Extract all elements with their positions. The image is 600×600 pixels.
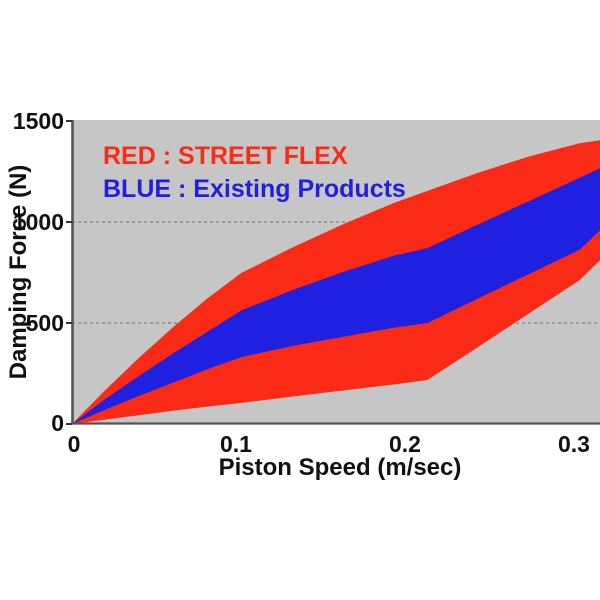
legend-value-existing-products: Existing Products: [193, 175, 406, 203]
legend-entry-street-flex: RED : STREET FLEX: [103, 142, 348, 170]
chart-figure: 0 500 1000 1500 0 0.1 0.2 0.3 Piston Spe…: [0, 0, 600, 600]
x-tick-label-0-3: 0.3: [558, 431, 590, 457]
legend-sep-blue: :: [178, 175, 186, 203]
legend-key-blue: BLUE: [103, 175, 171, 203]
legend-key-red: RED: [103, 142, 156, 170]
y-tick-label-0: 0: [51, 410, 64, 436]
legend-sep-red: :: [163, 142, 171, 170]
y-tick-label-1500: 1500: [13, 108, 64, 134]
x-tick-label-0: 0: [68, 431, 81, 457]
legend-value-street-flex: STREET FLEX: [178, 142, 348, 170]
damping-force-chart: 0 500 1000 1500 0 0.1 0.2 0.3 Piston Spe…: [0, 0, 600, 600]
x-axis-title: Piston Speed (m/sec): [219, 454, 462, 481]
legend-entry-existing-products: BLUE : Existing Products: [103, 175, 406, 203]
y-axis-title: Damping Force (N): [5, 165, 32, 380]
